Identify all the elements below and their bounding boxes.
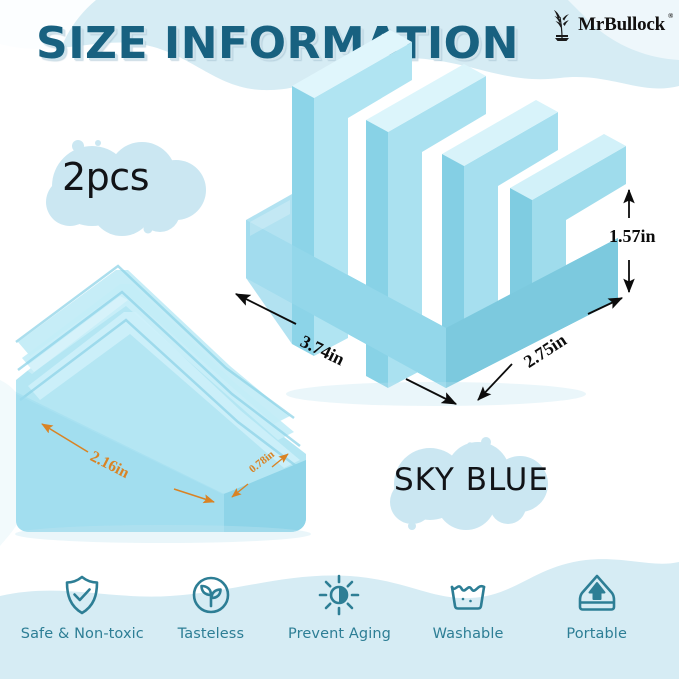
- portable-bag-icon: [575, 573, 619, 617]
- feature-label: Prevent Aging: [288, 626, 391, 642]
- sun-icon: [317, 573, 361, 617]
- shield-check-icon: [60, 573, 104, 617]
- pot-lid-holder-secondary-illustration: [8, 282, 318, 544]
- feature-label: Safe & Non-toxic: [21, 626, 144, 642]
- feature-label: Tasteless: [178, 626, 244, 642]
- feature-item-prevent-aging: Prevent Aging: [279, 573, 399, 642]
- feature-item-tasteless: Tasteless: [151, 573, 271, 642]
- leaf-circle-icon: [189, 573, 233, 617]
- infographic-canvas: SIZE INFORMATION MrBullock®: [0, 0, 679, 679]
- brand-logo: MrBullock®: [549, 8, 665, 42]
- product-image-secondary: [8, 282, 318, 544]
- feature-label: Portable: [566, 626, 627, 642]
- registered-trademark-symbol: ®: [668, 12, 673, 20]
- feature-item-washable: Washable: [408, 573, 528, 642]
- feature-strip: Safe & Non-toxic Tasteless: [0, 559, 679, 679]
- feature-item-safe-non-toxic: Safe & Non-toxic: [22, 573, 142, 642]
- page-title: SIZE INFORMATION: [36, 18, 519, 69]
- brand-name-text: MrBullock: [578, 14, 665, 35]
- dimension-label-height: 1.57in: [609, 226, 656, 247]
- color-label: SKY BLUE: [394, 462, 549, 498]
- brand-name: MrBullock®: [578, 14, 665, 36]
- quantity-label: 2pcs: [62, 155, 149, 199]
- feature-item-portable: Portable: [537, 573, 657, 642]
- sprout-plant-icon: [549, 8, 575, 42]
- feature-label: Washable: [433, 626, 504, 642]
- wash-basin-icon: [446, 573, 490, 617]
